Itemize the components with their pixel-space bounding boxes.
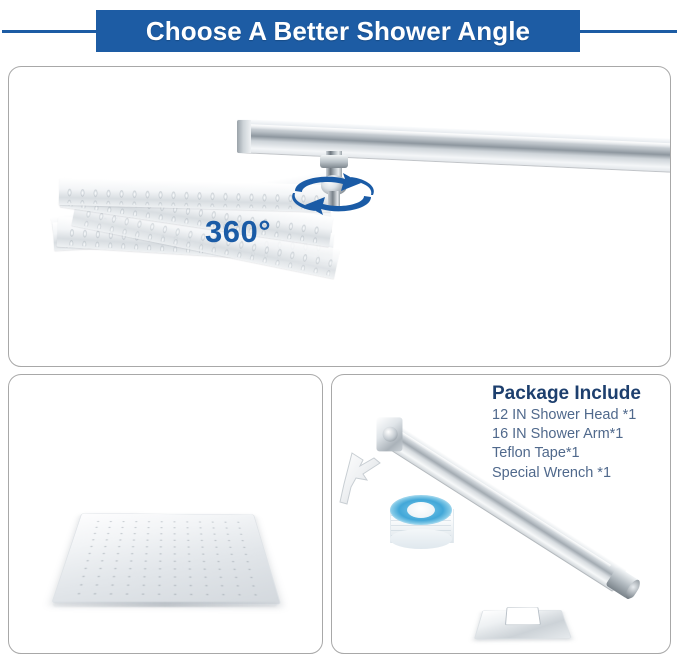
swivel-nut [320, 155, 348, 168]
page-title: Choose A Better Shower Angle [146, 16, 530, 47]
panel-multi-angle: 360° [8, 66, 671, 367]
shower-head-face [51, 513, 281, 604]
infographic-page: Choose A Better Shower Angle [0, 0, 679, 661]
package-item: 12 IN Shower Head *1 [492, 406, 667, 425]
tape-spool-hole [407, 502, 435, 518]
square-shower-arm [237, 119, 671, 161]
header-rule-left [2, 30, 102, 33]
header: Choose A Better Shower Angle [0, 0, 679, 62]
package-title: Package Include [492, 383, 667, 405]
shower-head-product [39, 407, 291, 619]
package-item: Teflon Tape*1 [492, 444, 667, 463]
panel-shower-head [8, 374, 323, 654]
teflon-tape [390, 495, 452, 551]
multi-angle-stage: 360° [9, 67, 670, 366]
angle-label: 360° [205, 214, 271, 250]
shower-head-edge-shadow [53, 602, 277, 607]
panel-package-include: Package Include 12 IN Shower Head *1 16 … [331, 374, 671, 654]
wall-flange [474, 575, 570, 637]
rotation-arrow-icon [285, 171, 381, 217]
shower-head-nozzles [71, 519, 262, 596]
header-rule-right [577, 30, 677, 33]
package-item: Special Wrench *1 [492, 464, 667, 483]
arm-end-cap [237, 120, 251, 153]
package-list: Package Include 12 IN Shower Head *1 16 … [492, 383, 667, 483]
header-banner: Choose A Better Shower Angle [96, 10, 580, 52]
flange-hole [505, 607, 541, 625]
arm-inlet [383, 427, 398, 442]
tape-roll-bottom [390, 529, 452, 549]
package-item: 16 IN Shower Arm*1 [492, 425, 667, 444]
